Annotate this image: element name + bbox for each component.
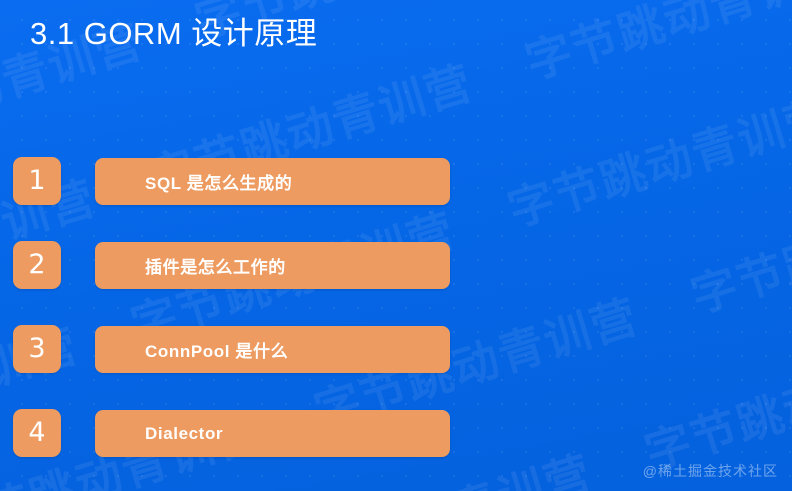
item-number-badge-3: 3	[13, 325, 61, 373]
item-bar-4[interactable]: Dialector	[95, 410, 450, 457]
list-item: 2 插件是怎么工作的	[0, 241, 792, 289]
item-label-2: 插件是怎么工作的	[145, 253, 286, 278]
slide-canvas: 字节跳动青训营 字节跳动青训营 字节跳动青训营 字节跳动青训营 字节跳动青训营 …	[0, 0, 792, 491]
item-label-4: Dialector	[145, 424, 223, 444]
item-number-badge-1: 1	[13, 157, 61, 205]
list-item: 4 Dialector	[0, 409, 792, 457]
item-label-3: ConnPool 是什么	[145, 337, 288, 362]
attribution-watermark: @稀土掘金技术社区	[643, 461, 778, 481]
item-bar-2[interactable]: 插件是怎么工作的	[95, 242, 450, 289]
agenda-list: 1 SQL 是怎么生成的 2 插件是怎么工作的 3 ConnPool 是什么 4…	[0, 157, 792, 491]
item-bar-1[interactable]: SQL 是怎么生成的	[95, 158, 450, 205]
list-item: 1 SQL 是怎么生成的	[0, 157, 792, 205]
page-title: 3.1 GORM 设计原理	[30, 12, 317, 56]
item-number-badge-2: 2	[13, 241, 61, 289]
item-bar-3[interactable]: ConnPool 是什么	[95, 326, 450, 373]
item-label-1: SQL 是怎么生成的	[145, 169, 292, 194]
list-item: 3 ConnPool 是什么	[0, 325, 792, 373]
item-number-badge-4: 4	[13, 409, 61, 457]
